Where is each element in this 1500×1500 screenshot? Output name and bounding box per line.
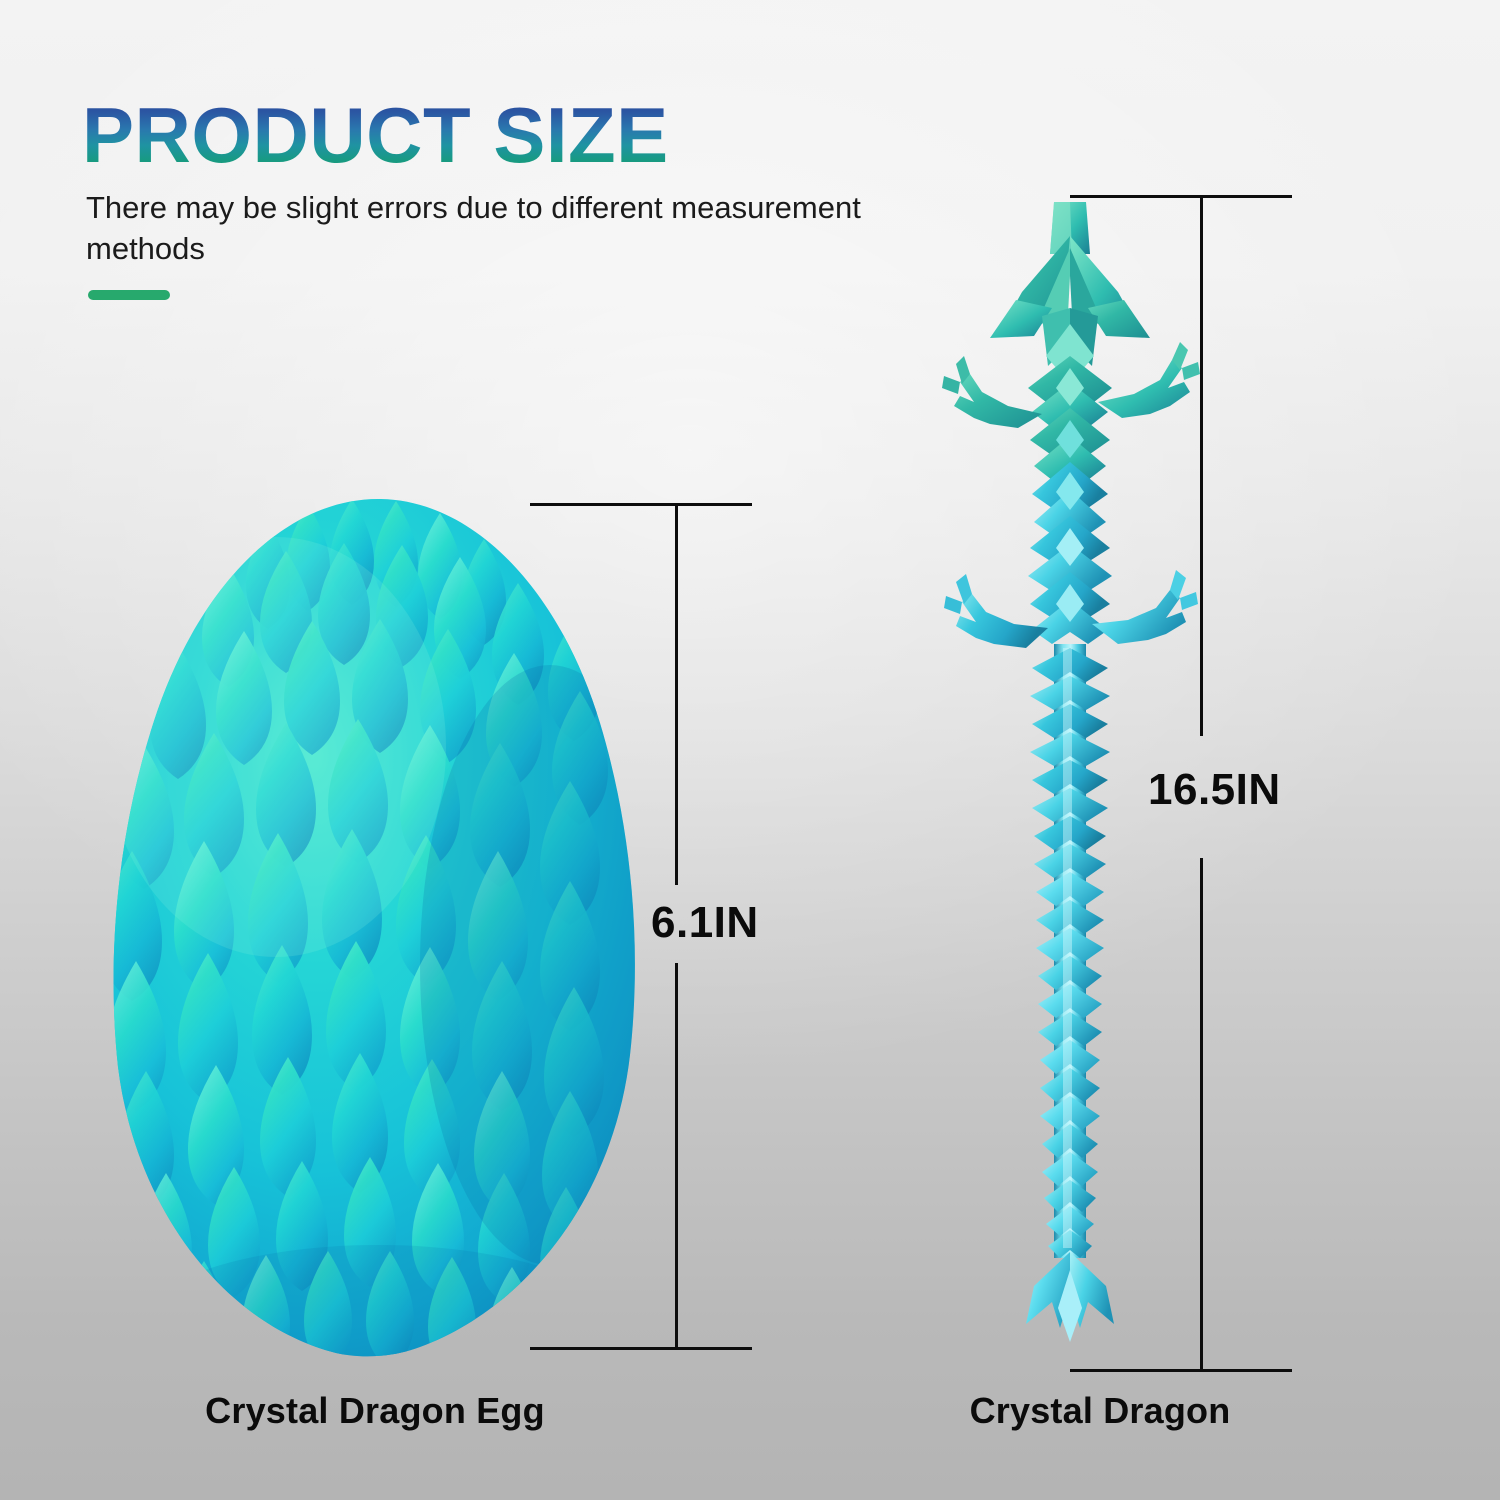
header-block: PRODUCT SIZE There may be slight errors … [82,98,982,300]
egg-dim-line-upper [675,503,678,885]
egg-dim-tick-bottom [530,1347,752,1350]
subtitle-text: There may be slight errors due to differ… [86,188,946,270]
dragon-dim-line-upper [1200,195,1203,736]
egg-dim-line-lower [675,963,678,1350]
egg-dim-tick-top [530,503,752,506]
dragon-dimension-label: 16.5IN [1148,765,1281,815]
dragon-dim-tick-bottom [1070,1369,1292,1372]
accent-bar [88,290,170,300]
page-title: PRODUCT SIZE [82,98,982,172]
egg-dimension-label: 6.1IN [651,898,759,948]
caption-crystal-dragon-egg: Crystal Dragon Egg [120,1390,630,1432]
dragon-dim-line-lower [1200,858,1203,1372]
product-size-infographic: PRODUCT SIZE There may be slight errors … [0,0,1500,1500]
crystal-dragon-egg-image [108,495,648,1365]
caption-crystal-dragon: Crystal Dragon [870,1390,1330,1432]
dragon-dim-tick-top [1070,195,1292,198]
